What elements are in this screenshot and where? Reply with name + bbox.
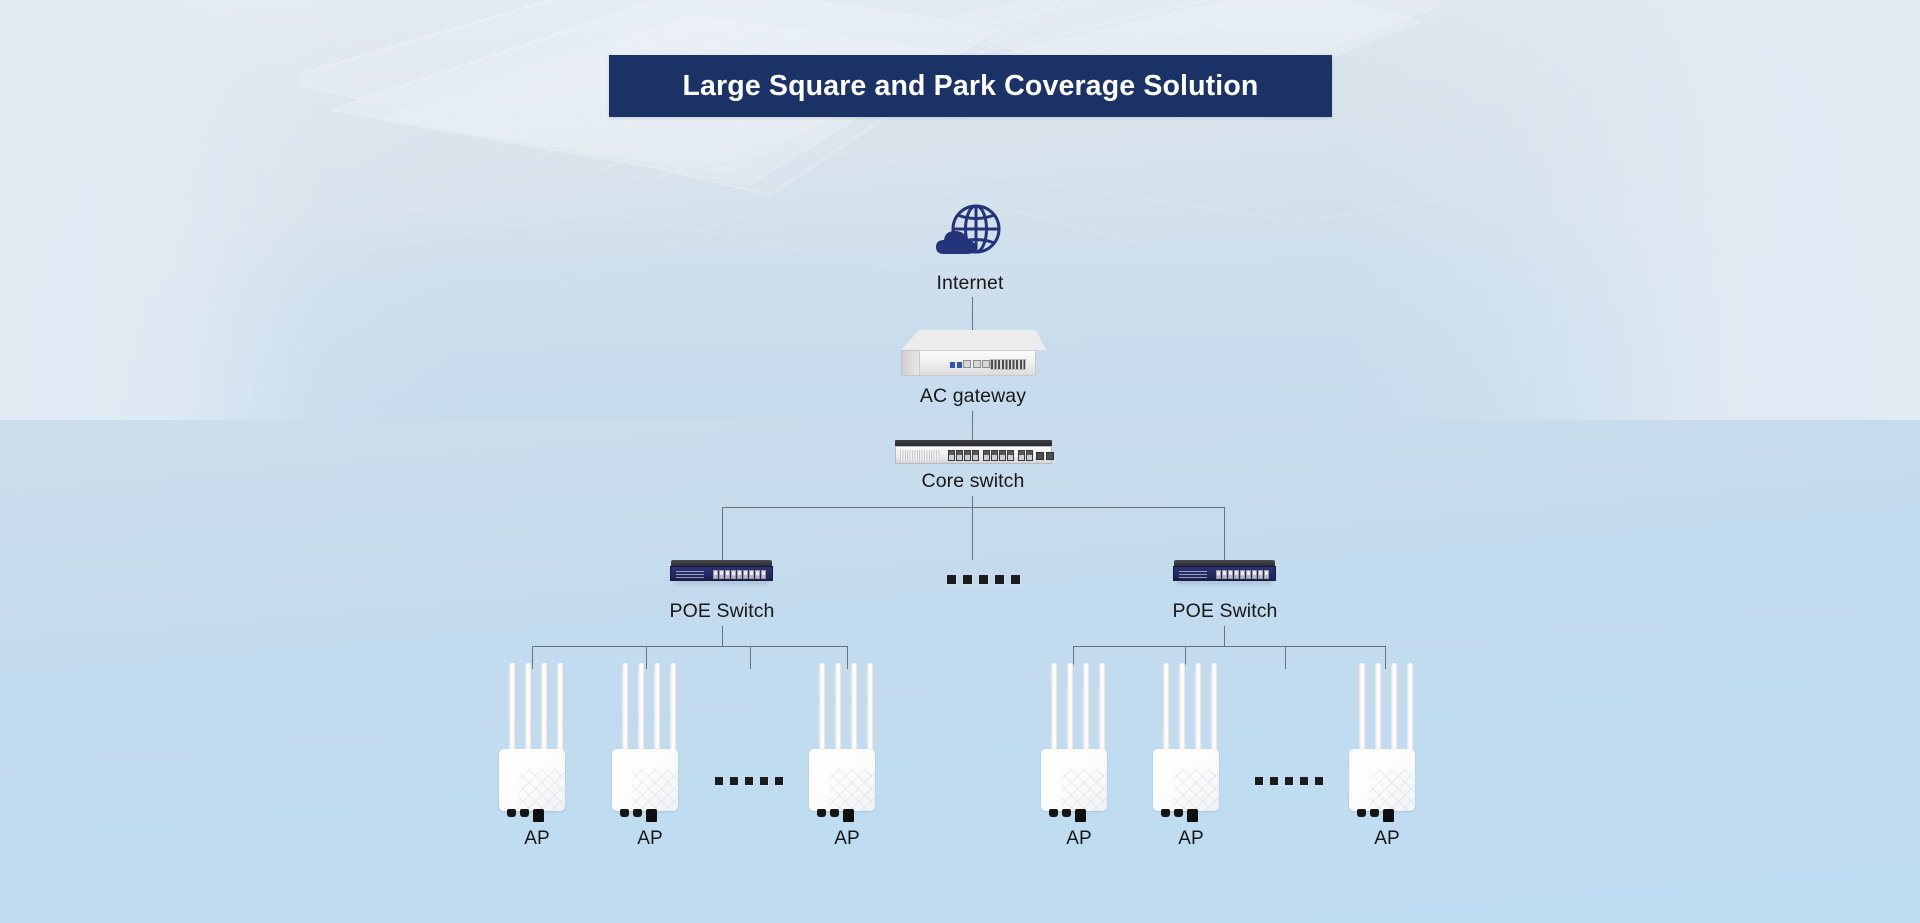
access-point-device <box>495 663 579 798</box>
poe-switch-left-label: POE Switch <box>600 600 844 623</box>
poe-switch-shadow <box>674 581 769 584</box>
ap-connector <box>830 809 839 817</box>
ap-texture-pattern <box>1173 769 1219 811</box>
link-poe-left-to-ap-mid <box>750 646 751 669</box>
ap-connector-row <box>1049 809 1086 822</box>
ap-antenna-array <box>509 663 564 755</box>
ap-power-connector <box>1187 809 1198 822</box>
poe-switch-right-label: POE Switch <box>1103 600 1347 623</box>
core-distribution-bus <box>722 507 1224 508</box>
link-gateway-to-core <box>972 411 973 441</box>
link-core-drop <box>972 496 973 507</box>
poe-switch-shadow <box>1177 581 1272 584</box>
ap-connector <box>817 809 826 817</box>
link-poe-right-drop <box>1224 626 1225 646</box>
link-core-to-poe-left <box>722 507 723 560</box>
ap-antenna <box>622 663 629 755</box>
core-switch-label: Core switch <box>851 470 1095 493</box>
ap-antenna <box>1391 663 1398 755</box>
ap-antenna <box>541 663 548 755</box>
core-switch-port-group <box>983 450 1014 461</box>
ap-enclosure <box>809 749 875 811</box>
usb-port-icon <box>950 362 955 368</box>
ac-gateway-device <box>901 330 1046 380</box>
ap-antenna <box>867 663 874 755</box>
ap-enclosure <box>499 749 565 811</box>
globe-cloud-icon <box>934 202 1006 264</box>
ap-3-label: AP <box>725 828 969 850</box>
ap-antenna <box>1211 663 1218 755</box>
ap-antenna <box>654 663 661 755</box>
ap-antenna <box>670 663 677 755</box>
ap-antenna <box>819 663 826 755</box>
ap-power-connector <box>533 809 544 822</box>
ap-antenna <box>835 663 842 755</box>
ap-row-left-ellipsis <box>715 777 783 785</box>
gateway-top-face <box>901 330 1046 350</box>
ap-connector <box>1161 809 1170 817</box>
poe-switch-left-device <box>670 560 773 584</box>
ap-connector-row <box>507 809 544 822</box>
ap-connector <box>620 809 629 817</box>
link-internet-to-gateway <box>972 297 973 330</box>
rj45-port-icon <box>982 360 990 368</box>
ap-antenna <box>851 663 858 755</box>
ap-antenna <box>557 663 564 755</box>
access-point-device <box>1037 663 1121 798</box>
poe-right-distribution-bus <box>1073 646 1385 647</box>
ap-antenna <box>1359 663 1366 755</box>
gateway-vent-grille <box>990 359 1026 370</box>
ap-antenna-array <box>1163 663 1218 755</box>
poe-switch-branding <box>676 571 704 578</box>
internet-label: Internet <box>848 272 1092 295</box>
ap-enclosure <box>612 749 678 811</box>
core-switch-sfp-slots <box>1036 452 1054 460</box>
poe-switch-right-device <box>1173 560 1276 584</box>
core-switch-port-group <box>1018 450 1033 461</box>
ap-power-connector <box>1075 809 1086 822</box>
ap-antenna <box>1375 663 1382 755</box>
ap-antenna-array <box>1359 663 1414 755</box>
ap-connector <box>1062 809 1071 817</box>
gateway-front-panel <box>919 350 1036 376</box>
ap-enclosure <box>1153 749 1219 811</box>
page-title: Large Square and Park Coverage Solution <box>682 70 1258 103</box>
rj45-port-icon <box>973 360 981 368</box>
ap-antenna <box>1099 663 1106 755</box>
ap-antenna <box>509 663 516 755</box>
poe-switch-front-panel <box>670 566 773 581</box>
ap-enclosure <box>1041 749 1107 811</box>
ap-connector-row <box>817 809 854 822</box>
ap-connector <box>1357 809 1366 817</box>
usb-port-icon <box>957 362 962 368</box>
ap-connector <box>520 809 529 817</box>
access-point-device <box>1345 663 1429 798</box>
ap-texture-pattern <box>632 769 678 811</box>
ap-antenna <box>1083 663 1090 755</box>
poe-switch-port-row <box>1216 570 1269 579</box>
gateway-side-face <box>901 350 919 376</box>
ap-antenna-array <box>622 663 677 755</box>
ap-6-label: AP <box>1265 828 1509 850</box>
poe-left-distribution-bus <box>532 646 847 647</box>
access-point-device <box>805 663 889 798</box>
ap-antenna <box>1163 663 1170 755</box>
access-point-device <box>608 663 692 798</box>
ap-antenna-array <box>819 663 874 755</box>
background-aerial-photo <box>300 0 1440 290</box>
ap-antenna <box>1195 663 1202 755</box>
ap-connector-row <box>620 809 657 822</box>
ap-antenna <box>1179 663 1186 755</box>
ap-connector-row <box>1357 809 1394 822</box>
ap-antenna <box>638 663 645 755</box>
core-switch-port-group <box>948 450 979 461</box>
ap-row-right-ellipsis <box>1255 777 1323 785</box>
ap-antenna-array <box>1051 663 1106 755</box>
ap-texture-pattern <box>519 769 565 811</box>
ap-antenna <box>1067 663 1074 755</box>
ap-power-connector <box>1383 809 1394 822</box>
link-core-to-poe-middle <box>972 507 973 560</box>
ap-texture-pattern <box>1369 769 1415 811</box>
link-core-to-poe-right <box>1224 507 1225 560</box>
ap-antenna <box>1051 663 1058 755</box>
core-switch-device <box>895 440 1052 466</box>
poe-switch-branding <box>1179 571 1207 578</box>
rj45-port-icon <box>963 360 971 368</box>
link-poe-left-drop <box>722 626 723 646</box>
poe-switch-port-row <box>713 570 766 579</box>
ap-antenna <box>1407 663 1414 755</box>
ap-antenna <box>525 663 532 755</box>
diagram-canvas: Large Square and Park Coverage Solution … <box>0 0 1920 923</box>
ac-gateway-label: AC gateway <box>851 385 1095 408</box>
access-point-device <box>1149 663 1233 798</box>
ap-connector <box>1174 809 1183 817</box>
ap-texture-pattern <box>829 769 875 811</box>
ap-connector <box>1370 809 1379 817</box>
core-switch-vent <box>900 450 940 461</box>
ap-texture-pattern <box>1061 769 1107 811</box>
ap-power-connector <box>646 809 657 822</box>
ap-connector-row <box>1161 809 1198 822</box>
poe-switch-front-panel <box>1173 566 1276 581</box>
ap-enclosure <box>1349 749 1415 811</box>
link-poe-right-to-ap-mid <box>1285 646 1286 669</box>
ap-power-connector <box>843 809 854 822</box>
ap-connector <box>633 809 642 817</box>
ap-connector <box>1049 809 1058 817</box>
title-banner: Large Square and Park Coverage Solution <box>609 55 1332 117</box>
ap-connector <box>507 809 516 817</box>
core-switch-front-panel <box>895 446 1052 464</box>
poe-switch-row-ellipsis <box>947 575 1020 584</box>
